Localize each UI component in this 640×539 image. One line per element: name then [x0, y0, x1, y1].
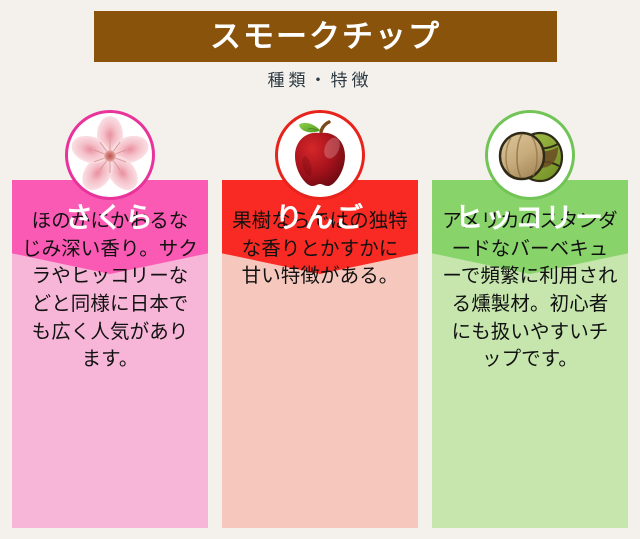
smoke-chip-columns: さくら — [0, 104, 640, 539]
page-title: スモークチップ — [210, 21, 441, 52]
chip-card-ringo[interactable]: りんご — [222, 104, 418, 528]
chip-name-label: さくら — [12, 204, 208, 232]
chip-card-sakura[interactable]: さくら — [12, 104, 208, 528]
apple-icon — [275, 110, 365, 200]
title-banner: スモークチップ — [94, 11, 557, 62]
page-subtitle: 種類・特徴 — [0, 66, 640, 91]
cherry-blossom-icon — [65, 110, 155, 200]
chip-card-hickory[interactable]: ヒッコリー — [432, 104, 628, 528]
chip-name-label: ヒッコリー — [432, 204, 628, 232]
hickory-nut-icon — [485, 110, 575, 200]
chip-name-label: りんご — [222, 204, 418, 232]
page-header: スモークチップ 種類・特徴 — [0, 0, 640, 104]
